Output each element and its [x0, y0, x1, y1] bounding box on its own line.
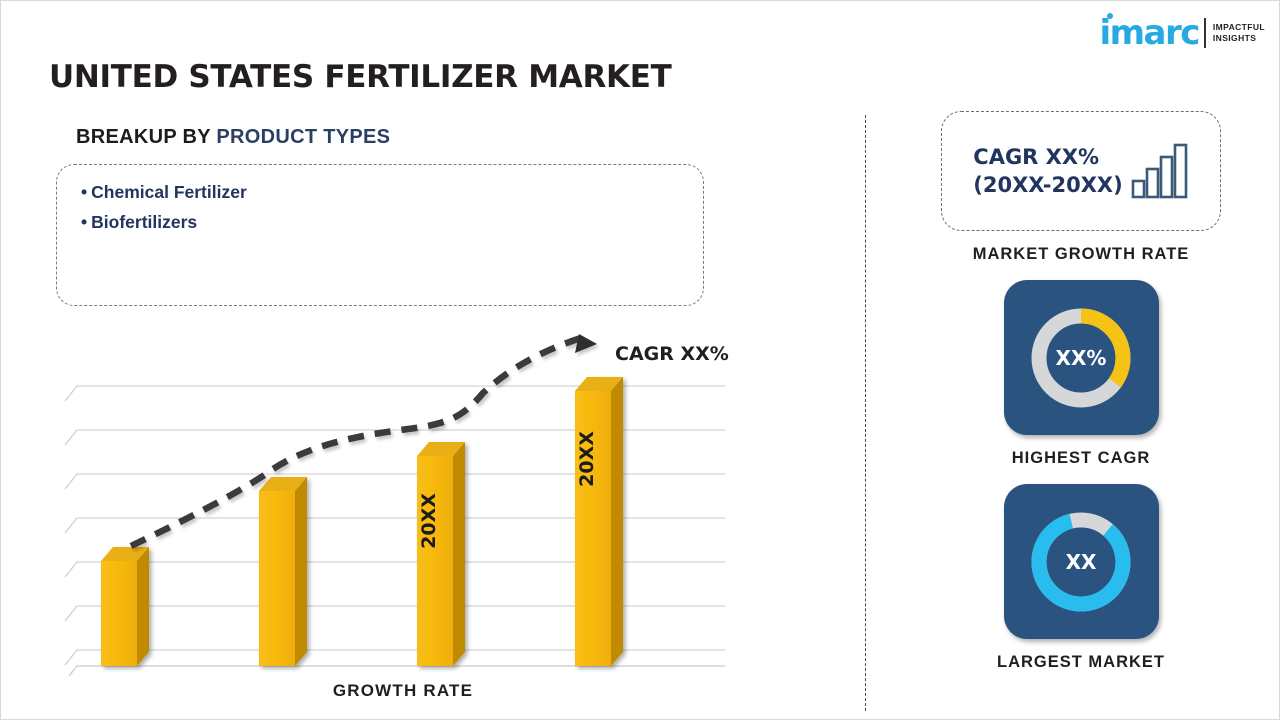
list-item-label: Chemical Fertilizer — [91, 182, 247, 202]
chart-gridlines — [65, 386, 725, 665]
highest-cagr-card: XX% — [1004, 280, 1159, 435]
imarc-logo: imarc IMPACTFUL INSIGHTS — [1099, 13, 1265, 53]
breakup-heading-prefix: BREAKUP BY — [76, 126, 216, 148]
chart-bar: 20XX — [575, 377, 623, 666]
chart-bar-label: 20XX — [576, 431, 598, 487]
chart-cagr-label: CAGR XX% — [615, 343, 729, 365]
page-title: UNITED STATES FERTILIZER MARKET — [49, 59, 671, 95]
largest-market-value: XX — [1066, 550, 1097, 574]
chart-bar — [259, 477, 307, 666]
chart-bar: 20XX — [417, 442, 465, 666]
cagr-callout-line2: (20XX-20XX) — [973, 171, 1122, 199]
largest-market-card: XX — [1004, 484, 1159, 639]
slide-canvas: imarc IMPACTFUL INSIGHTS UNITED STATES F… — [0, 0, 1280, 720]
donut-chart-icon: XX — [1025, 506, 1137, 618]
chart-bar-label: 20XX — [418, 493, 440, 549]
cagr-callout-box: CAGR XX% (20XX-20XX) — [941, 111, 1221, 231]
logo-divider — [1204, 18, 1206, 48]
stats-panel: CAGR XX% (20XX-20XX) MARKET GROWTH RATE — [901, 111, 1261, 672]
list-item: •Chemical Fertilizer — [81, 177, 679, 207]
chart-baseline — [65, 666, 725, 676]
highest-cagr-caption: HIGHEST CAGR — [901, 449, 1261, 468]
bar-chart-icon — [1131, 143, 1189, 199]
logo-wordmark: imarc — [1099, 16, 1198, 50]
market-growth-rate-caption: MARKET GROWTH RATE — [901, 245, 1261, 264]
section-divider — [865, 115, 866, 711]
breakup-heading-accent: PRODUCT TYPES — [216, 126, 390, 148]
cagr-callout-text: CAGR XX% (20XX-20XX) — [973, 143, 1122, 200]
list-item-label: Biofertilizers — [91, 212, 197, 232]
logo-tagline-line1: IMPACTFUL — [1213, 22, 1265, 33]
chart-bar — [101, 547, 149, 666]
donut-chart-icon: XX% — [1025, 302, 1137, 414]
logo-wordmark-text: imarc — [1099, 13, 1198, 53]
chart-axis-label: GROWTH RATE — [63, 681, 743, 701]
logo-tagline-line2: INSIGHTS — [1213, 33, 1265, 44]
growth-rate-chart: 20XX 20XX CAGR XX% GROWTH RATE — [63, 331, 743, 711]
largest-market-caption: LARGEST MARKET — [901, 653, 1261, 672]
product-types-box: •Chemical Fertilizer •Biofertilizers — [56, 164, 704, 306]
list-item: •Biofertilizers — [81, 207, 679, 237]
cagr-callout-line1: CAGR XX% — [973, 143, 1122, 171]
breakup-heading: BREAKUP BY PRODUCT TYPES — [76, 126, 390, 149]
highest-cagr-value: XX% — [1056, 346, 1107, 370]
chart-svg: 20XX 20XX — [63, 331, 743, 676]
logo-tagline: IMPACTFUL INSIGHTS — [1213, 22, 1265, 45]
bullet-icon: • — [81, 182, 87, 202]
chart-trend-line — [131, 334, 597, 546]
bullet-icon: • — [81, 212, 87, 232]
